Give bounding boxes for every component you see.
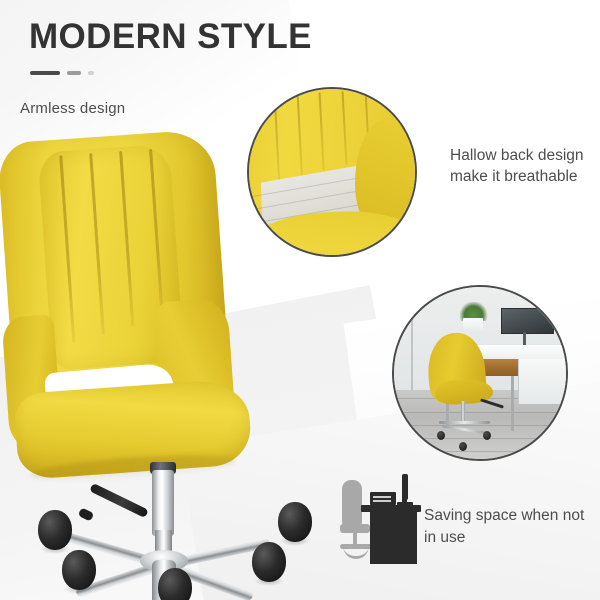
inset-circle-room-scene <box>392 285 568 461</box>
chair-channel-seam <box>119 151 134 327</box>
chair-caster <box>252 542 286 582</box>
picto-monitor <box>402 474 408 500</box>
picto-chair-back <box>342 480 362 526</box>
page-subtitle: Armless design <box>20 100 125 117</box>
feature-caption-saving-space: Saving space when not in use <box>424 505 599 549</box>
chair-caster <box>38 510 72 550</box>
picto-desk-device <box>370 492 396 505</box>
picto-device-line <box>373 496 391 498</box>
scene-floor-plank-line <box>394 412 566 413</box>
scene-floor-plank-line <box>394 425 566 426</box>
scene-chair-gas-cylinder <box>461 401 465 423</box>
dash-long-icon <box>30 71 60 75</box>
scene-monitor <box>501 308 555 334</box>
scene-floor-plank-line <box>394 438 566 439</box>
chair-lever-tip <box>78 507 95 521</box>
scene-chair-base-spoke-a <box>439 421 491 424</box>
picto-chair-base-curve <box>343 546 369 559</box>
scene-plant-pot <box>463 318 484 332</box>
page-title: MODERN STYLE <box>29 19 312 54</box>
product-hero-chair <box>0 130 330 580</box>
picto-monitor-base <box>397 502 413 506</box>
scene-floor-plank-line <box>394 451 566 452</box>
dash-medium-icon <box>67 71 81 75</box>
picto-desk-top <box>361 505 421 512</box>
chair-channel-seam <box>149 149 164 319</box>
chair-caster <box>62 550 96 590</box>
chair-channel-seam <box>59 155 75 343</box>
scene-wall-edge <box>411 287 413 394</box>
closeup-channel-seam <box>341 91 347 165</box>
scene-desk-leg-right <box>511 376 514 431</box>
title-divider-dashes <box>30 71 94 75</box>
chair-caster <box>278 502 312 542</box>
picto-desk-body <box>370 512 417 564</box>
scene-desk-drawer <box>518 359 568 404</box>
feature-caption-hallow-back: Hallow back design make it breathable <box>450 145 595 187</box>
picto-device-line <box>373 500 391 502</box>
dash-short-icon <box>88 71 94 75</box>
chair-channel-seam <box>89 153 105 335</box>
saving-space-pictogram-icon <box>340 462 424 568</box>
infographic-canvas: MODERN STYLE Armless design Hallow back … <box>0 0 600 600</box>
chair-caster <box>158 568 192 600</box>
chair-gas-cylinder <box>152 470 174 536</box>
chair-height-lever <box>89 483 149 518</box>
